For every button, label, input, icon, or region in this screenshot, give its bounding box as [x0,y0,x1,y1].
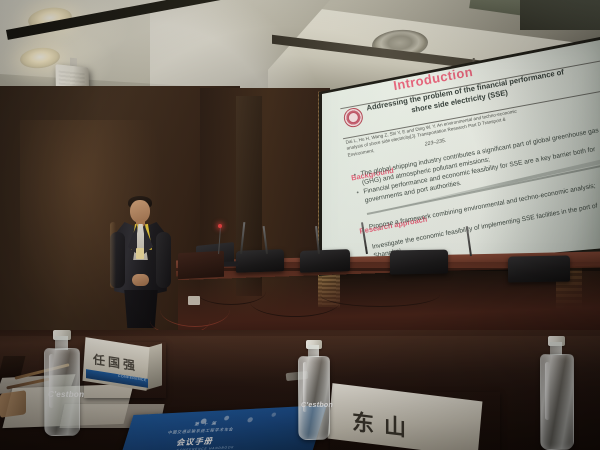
presenter-badge [136,248,144,259]
booklet-line-2: 中国交通运输系统工程学术年会 [167,427,234,436]
panel-chair [236,249,284,273]
table-name-card: 任国强 CONFERENCE [84,342,166,398]
presenter-hands [132,274,149,286]
table-name-card: 东山 [330,392,500,450]
water-bottle: C'estbon [44,330,78,434]
panel-chair [508,255,570,282]
bottle-highlight [545,362,550,420]
ceiling-dark-corner [520,0,600,30]
podium-shelf [178,251,224,279]
projection-screen: Introduction Addressing the problem of t… [305,36,600,276]
cable [320,282,440,307]
bottle-highlight [49,354,54,408]
presenter-rim-light [110,222,116,288]
panel-chair [390,249,448,274]
presentation-slide: Introduction Addressing the problem of t… [305,36,600,276]
presenter-arm [156,232,171,288]
water-bottle: C'estbon [298,340,328,440]
panel-chair [300,249,350,273]
cup [0,390,26,418]
floor-outlet-box [188,296,200,305]
university-seal-logo [343,106,365,128]
bottle-highlight [303,362,307,412]
microphone-indicator-light [218,224,222,228]
conference-room-photo: Introduction Addressing the problem of t… [0,0,600,450]
water-bottle [540,336,572,448]
